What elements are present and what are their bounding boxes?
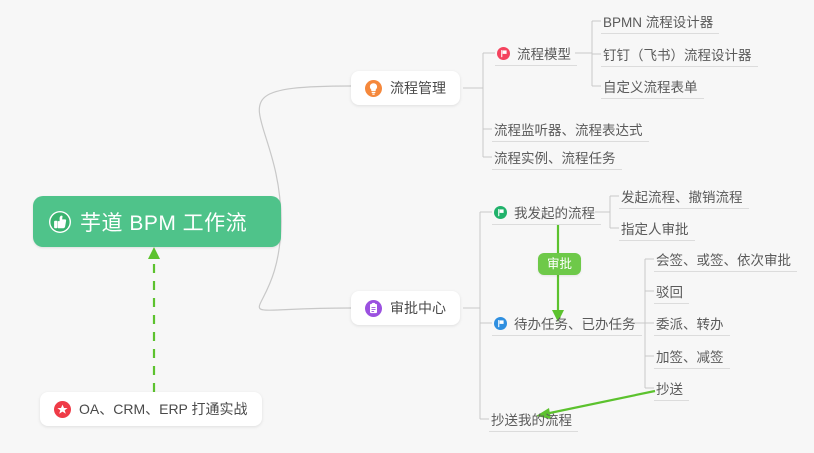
node-start-cancel-flow[interactable]: 发起流程、撤销流程 — [619, 184, 749, 209]
root-node[interactable]: 芋道 BPM 工作流 — [33, 196, 281, 247]
node-dingtalk-designer-label: 钉钉（飞书）流程设计器 — [603, 44, 752, 64]
node-multi-sign-label: 会签、或签、依次审批 — [656, 249, 791, 269]
node-cc-to-me-flows-label: 抄送我的流程 — [491, 409, 572, 429]
flag-icon — [497, 47, 510, 60]
node-flow-model-label: 流程模型 — [517, 43, 571, 63]
node-flow-listener-expression[interactable]: 流程监听器、流程表达式 — [492, 117, 649, 142]
node-add-remove-sign-label: 加签、减签 — [656, 346, 724, 366]
clipboard-icon — [365, 300, 382, 317]
node-delegate-transfer[interactable]: 委派、转办 — [654, 311, 730, 336]
node-assign-approver-label: 指定人审批 — [621, 218, 689, 238]
node-cc[interactable]: 抄送 — [654, 376, 689, 401]
approve-badge: 审批 — [538, 253, 581, 275]
node-assign-approver[interactable]: 指定人审批 — [619, 216, 695, 241]
node-reject[interactable]: 驳回 — [654, 279, 689, 304]
node-custom-form[interactable]: 自定义流程表单 — [601, 74, 704, 99]
node-add-remove-sign[interactable]: 加签、减签 — [654, 344, 730, 369]
thumbs-up-icon — [49, 211, 71, 233]
star-icon — [54, 401, 71, 418]
bottom-note-card[interactable]: OA、CRM、ERP 打通实战 — [40, 392, 262, 426]
flag-icon — [494, 206, 507, 219]
node-flow-listener-expression-label: 流程监听器、流程表达式 — [494, 119, 643, 139]
node-bpmn-designer-label: BPMN 流程设计器 — [603, 11, 713, 31]
branch-approval-center[interactable]: 审批中心 — [351, 291, 460, 325]
root-node-label: 芋道 BPM 工作流 — [80, 207, 247, 237]
mindmap-canvas: 芋道 BPM 工作流 流程管理 流程模型 BPMN 流程设计器 钉钉 — [0, 0, 814, 453]
node-start-cancel-flow-label: 发起流程、撤销流程 — [621, 186, 743, 206]
node-todo-done-tasks-label: 待办任务、已办任务 — [514, 313, 636, 333]
node-my-started-flows-label: 我发起的流程 — [514, 202, 595, 222]
node-cc-to-me-flows[interactable]: 抄送我的流程 — [489, 407, 578, 432]
node-flow-model[interactable]: 流程模型 — [495, 41, 577, 66]
node-flow-instance-task-label: 流程实例、流程任务 — [494, 147, 616, 167]
node-cc-label: 抄送 — [656, 378, 683, 398]
node-reject-label: 驳回 — [656, 281, 683, 301]
node-custom-form-label: 自定义流程表单 — [603, 76, 698, 96]
branch-flow-management[interactable]: 流程管理 — [351, 71, 460, 105]
arrow-bottom-note-head — [148, 247, 160, 259]
bottom-note-label: OA、CRM、ERP 打通实战 — [79, 399, 248, 419]
lightbulb-icon — [365, 80, 382, 97]
node-multi-sign[interactable]: 会签、或签、依次审批 — [654, 247, 797, 272]
branch-flow-management-label: 流程管理 — [390, 78, 446, 98]
node-delegate-transfer-label: 委派、转办 — [656, 313, 724, 333]
node-my-started-flows[interactable]: 我发起的流程 — [492, 200, 601, 225]
node-flow-instance-task[interactable]: 流程实例、流程任务 — [492, 145, 622, 170]
flag-icon — [494, 317, 507, 330]
branch-approval-center-label: 审批中心 — [390, 298, 446, 318]
node-todo-done-tasks[interactable]: 待办任务、已办任务 — [492, 311, 642, 336]
node-dingtalk-designer[interactable]: 钉钉（飞书）流程设计器 — [601, 42, 758, 67]
node-bpmn-designer[interactable]: BPMN 流程设计器 — [601, 9, 719, 34]
